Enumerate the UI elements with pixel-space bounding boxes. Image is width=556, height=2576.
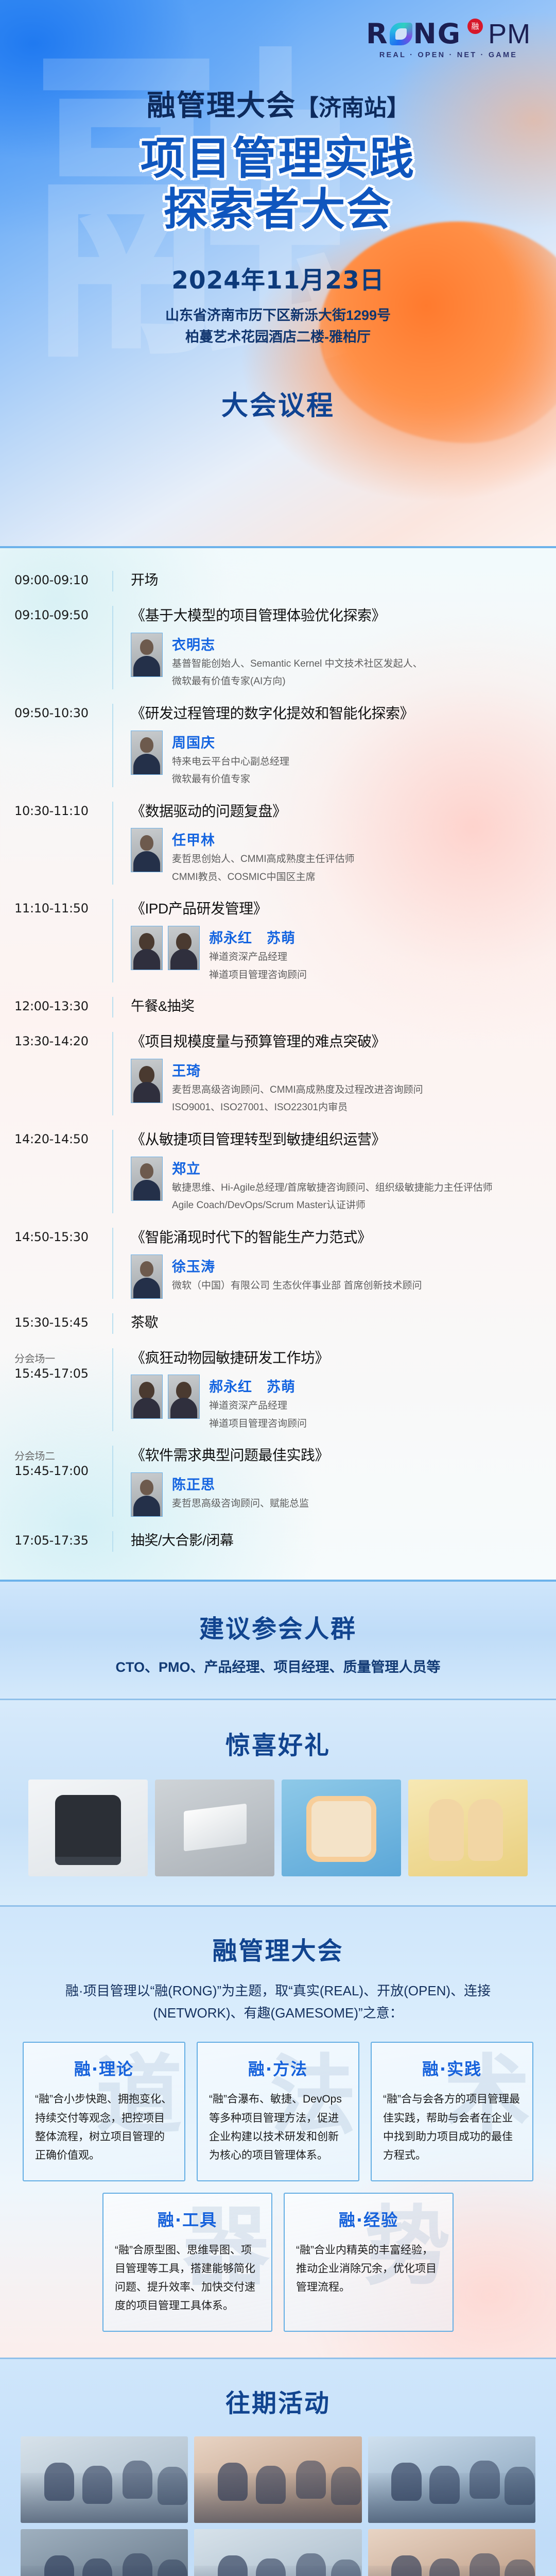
- speaker-info: 郝永红 苏萌禅道资深产品经理禅道项目管理咨询顾问: [200, 1375, 307, 1431]
- agenda-time: 14:20-14:50: [14, 1130, 112, 1146]
- agenda-time: 09:50-10:30: [14, 704, 112, 720]
- agenda-row: 09:00-09:10开场: [0, 564, 556, 599]
- speaker-info: 王琦麦哲思高级咨询顾问、CMMI高成熟度及过程改进咨询顾问ISO9001、ISO…: [163, 1059, 423, 1115]
- agenda-body: 《智能涌现时代下的智能生产力范式》徐玉涛微软（中国）有限公司 生态伙伴事业部 首…: [112, 1228, 536, 1299]
- speaker-info: 陈正思麦哲思高级咨询顾问、赋能总监: [163, 1472, 309, 1512]
- brand-card: 道融·理论“融”合小步快跑、拥抱变化、持续交付等观念，把控项目整体流程，树立项目…: [23, 2042, 185, 2181]
- audience-text: CTO、PMO、产品经理、项目经理、质量管理人员等: [0, 1656, 556, 1676]
- card-title: 融·工具: [115, 2207, 260, 2231]
- agenda-title: 茶歇: [131, 1313, 536, 1332]
- past-event-photo: [368, 2436, 535, 2523]
- gift-image-row: [0, 1780, 556, 1876]
- speaker-title: 麦哲思高级咨询顾问、赋能总监: [172, 1497, 309, 1512]
- agenda-row: 分会场二15:45-17:00《软件需求典型问题最佳实践》陈正思麦哲思高级咨询顾…: [0, 1438, 556, 1524]
- agenda-title: 《智能涌现时代下的智能生产力范式》: [131, 1228, 536, 1247]
- speaker-block: 郝永红 苏萌禅道资深产品经理禅道项目管理咨询顾问: [131, 926, 536, 982]
- gift-plush-doll-image: [408, 1780, 528, 1876]
- agenda-title: 《从敏捷项目管理转型到敏捷组织运营》: [131, 1130, 536, 1149]
- agenda-title: 午餐&抽奖: [131, 997, 536, 1015]
- speaker-info: 任甲林麦哲思创始人、CMMI高成熟度主任评估师CMMI教员、COSMIC中国区主…: [163, 828, 355, 885]
- past-event-photo: [194, 2529, 361, 2576]
- speaker-title: 麦哲思高级咨询顾问、CMMI高成熟度及过程改进咨询顾问: [172, 1083, 423, 1098]
- agenda-row: 15:30-15:45茶歇: [0, 1306, 556, 1341]
- address-line-1: 山东省济南市历下区新泺大街1299号: [0, 305, 556, 327]
- gifts-heading: 惊喜好礼: [0, 1725, 556, 1761]
- speaker-title: ISO9001、ISO27001、ISO22301内审员: [172, 1100, 423, 1115]
- speaker-block: 任甲林麦哲思创始人、CMMI高成熟度主任评估师CMMI教员、COSMIC中国区主…: [131, 828, 536, 885]
- speaker-title: 禅道资深产品经理: [209, 950, 307, 965]
- speaker-title: 基普智能创始人、Semantic Kernel 中文技术社区发起人、: [172, 657, 423, 672]
- agenda-body: 《研发过程管理的数字化提效和智能化探索》周国庆特来电云平台中心副总经理微软最有价…: [112, 704, 536, 787]
- agenda-title: 《疯狂动物园敏捷研发工作坊》: [131, 1348, 536, 1368]
- agenda-time: 分会场一15:45-17:05: [14, 1348, 112, 1381]
- speaker-avatar: [131, 1375, 163, 1419]
- agenda-session-label: 分会场一: [14, 1350, 112, 1365]
- brand-cards-row-2: 器融·工具“融”合原型图、思维导图、项目管理等工具，搭建能够简化问题、提升效率、…: [0, 2193, 556, 2332]
- speaker-avatar: [131, 828, 163, 872]
- hero-title-line1: 融管理大会【济南站】: [0, 82, 556, 124]
- agenda-body: 《软件需求典型问题最佳实践》陈正思麦哲思高级咨询顾问、赋能总监: [112, 1446, 536, 1517]
- card-title: 融·实践: [383, 2056, 521, 2080]
- speaker-info: 郑立敏捷思维、Hi-Agile总经理/首席敏捷咨询顾问、组织级敏捷能力主任评估师…: [163, 1157, 493, 1213]
- speaker-avatar: [131, 731, 163, 775]
- speaker-name: 王琦: [172, 1060, 423, 1080]
- brand-heading: 融管理大会: [0, 1930, 556, 1967]
- brand-description: 融·项目管理以“融(RONG)”为主题，取“真实(REAL)、开放(OPEN)、…: [33, 1980, 523, 2024]
- agenda-title: 《项目规模度量与预算管理的难点突破》: [131, 1032, 536, 1052]
- speaker-photos: [131, 1255, 163, 1299]
- agenda-time: 14:50-15:30: [14, 1228, 112, 1244]
- agenda-heading: 大会议程: [0, 384, 556, 422]
- speaker-block: 徐玉涛微软（中国）有限公司 生态伙伴事业部 首席创新技术顾问: [131, 1255, 536, 1299]
- agenda-body: 《IPD产品研发管理》郝永红 苏萌禅道资深产品经理禅道项目管理咨询顾问: [112, 899, 536, 982]
- agenda-section: 09:00-09:10开场09:10-09:50《基于大模型的项目管理体验优化探…: [0, 546, 556, 1582]
- speaker-name: 周国庆: [172, 732, 289, 752]
- agenda-time: 13:30-14:20: [14, 1032, 112, 1048]
- speaker-title: 禅道项目管理咨询顾问: [209, 968, 307, 983]
- speaker-title: 微软（中国）有限公司 生态伙伴事业部 首席创新技术顾问: [172, 1279, 422, 1294]
- card-title: 融·方法: [209, 2056, 347, 2080]
- event-date: 2024年11月23日: [0, 260, 556, 296]
- speaker-info: 郝永红 苏萌禅道资深产品经理禅道项目管理咨询顾问: [200, 926, 307, 982]
- speaker-photos: [131, 731, 163, 775]
- agenda-time: 09:10-09:50: [14, 606, 112, 622]
- agenda-row: 11:10-11:50《IPD产品研发管理》郝永红 苏萌禅道资深产品经理禅道项目…: [0, 892, 556, 990]
- speaker-name: 郝永红 苏萌: [209, 1376, 307, 1396]
- speaker-avatar: [131, 1157, 163, 1201]
- speaker-title: 特来电云平台中心副总经理: [172, 755, 289, 770]
- agenda-body: 开场: [112, 571, 536, 591]
- card-text: “融”合业内精英的丰富经验，推动企业消除冗余，优化项目管理流程。: [296, 2241, 441, 2297]
- agenda-row: 分会场一15:45-17:05《疯狂动物园敏捷研发工作坊》郝永红 苏萌禅道资深产…: [0, 1341, 556, 1439]
- speaker-title: CMMI教员、COSMIC中国区主席: [172, 870, 355, 885]
- past-events-section: 往期活动: [0, 2359, 556, 2576]
- agenda-title: 抽奖/大合影/闭幕: [131, 1531, 536, 1550]
- speaker-photos: [131, 633, 163, 677]
- agenda-time: 12:00-13:30: [14, 997, 112, 1013]
- speaker-title: 禅道资深产品经理: [209, 1399, 307, 1414]
- speaker-name: 徐玉涛: [172, 1256, 422, 1276]
- past-event-photo: [194, 2436, 361, 2523]
- speaker-photos: [131, 1157, 163, 1201]
- agenda-title: 开场: [131, 571, 536, 589]
- agenda-time: 09:00-09:10: [14, 571, 112, 587]
- agenda-session-label: 分会场二: [14, 1448, 112, 1463]
- speaker-block: 陈正思麦哲思高级咨询顾问、赋能总监: [131, 1472, 536, 1517]
- speaker-block: 郝永红 苏萌禅道资深产品经理禅道项目管理咨询顾问: [131, 1375, 536, 1431]
- speaker-block: 王琦麦哲思高级咨询顾问、CMMI高成熟度及过程改进咨询顾问ISO9001、ISO…: [131, 1059, 536, 1115]
- agenda-body: 《基于大模型的项目管理体验优化探索》衣明志基普智能创始人、Semantic Ke…: [112, 606, 536, 689]
- speaker-info: 衣明志基普智能创始人、Semantic Kernel 中文技术社区发起人、微软最…: [163, 633, 423, 689]
- brand-card: 法融·方法“融”合瀑布、敏捷、DevOps等多种项目管理方法，促进企业构建以技术…: [197, 2042, 359, 2181]
- speaker-name: 陈正思: [172, 1473, 309, 1494]
- agenda-time: 15:30-15:45: [14, 1313, 112, 1330]
- speaker-name: 郑立: [172, 1158, 493, 1178]
- audience-heading: 建议参会人群: [0, 1608, 556, 1645]
- speaker-name: 衣明志: [172, 634, 423, 654]
- agenda-row: 12:00-13:30午餐&抽奖: [0, 990, 556, 1025]
- past-event-photo: [368, 2529, 535, 2576]
- speaker-photos: [131, 1472, 163, 1517]
- gifts-section: 惊喜好礼: [0, 1700, 556, 1907]
- brand-cards-row-1: 道融·理论“融”合小步快跑、拥抱变化、持续交付等观念，把控项目整体流程，树立项目…: [0, 2042, 556, 2181]
- speaker-photos: [131, 1059, 163, 1103]
- agenda-title: 《基于大模型的项目管理体验优化探索》: [131, 606, 536, 625]
- past-event-photo: [21, 2529, 188, 2576]
- past-event-photo: [21, 2436, 188, 2523]
- speaker-block: 衣明志基普智能创始人、Semantic Kernel 中文技术社区发起人、微软最…: [131, 633, 536, 689]
- speaker-info: 周国庆特来电云平台中心副总经理微软最有价值专家: [163, 731, 289, 787]
- past-events-photo-grid: [0, 2436, 556, 2576]
- gift-backpack-image: [28, 1780, 148, 1876]
- speaker-title: 麦哲思创始人、CMMI高成熟度主任评估师: [172, 852, 355, 867]
- speaker-avatar: [168, 1375, 200, 1419]
- agenda-body: 茶歇: [112, 1313, 536, 1334]
- speaker-name: 任甲林: [172, 829, 355, 849]
- event-address: 山东省济南市历下区新泺大街1299号 柏蔓艺术花园酒店二楼-雅柏厅: [0, 305, 556, 348]
- agenda-body: 《从敏捷项目管理转型到敏捷组织运营》郑立敏捷思维、Hi-Agile总经理/首席敏…: [112, 1130, 536, 1213]
- agenda-time: 11:10-11:50: [14, 899, 112, 916]
- speaker-name: 郝永红 苏萌: [209, 927, 307, 947]
- speaker-photos: [131, 828, 163, 872]
- hero-title-main: 融管理大会: [147, 89, 296, 123]
- agenda-row: 14:50-15:30《智能涌现时代下的智能生产力范式》徐玉涛微软（中国）有限公…: [0, 1221, 556, 1306]
- agenda-title: 《数据驱动的问题复盘》: [131, 802, 536, 821]
- speaker-title: 微软最有价值专家: [172, 772, 289, 787]
- speaker-block: 周国庆特来电云平台中心副总经理微软最有价值专家: [131, 731, 536, 787]
- agenda-title: 《软件需求典型问题最佳实践》: [131, 1446, 536, 1465]
- agenda-row: 10:30-11:10《数据驱动的问题复盘》任甲林麦哲思创始人、CMMI高成熟度…: [0, 794, 556, 892]
- brand-card: 术融·实践“融”合与会各方的项目管理最佳实践，帮助与会者在企业中找到助力项目成功…: [371, 2042, 533, 2181]
- card-text: “融”合瀑布、敏捷、DevOps等多种项目管理方法，促进企业构建以技术研发和创新…: [209, 2090, 347, 2164]
- agenda-body: 《数据驱动的问题复盘》任甲林麦哲思创始人、CMMI高成熟度主任评估师CMMI教员…: [112, 802, 536, 885]
- agenda-time: 10:30-11:10: [14, 802, 112, 818]
- agenda-row: 13:30-14:20《项目规模度量与预算管理的难点突破》王琦麦哲思高级咨询顾问…: [0, 1025, 556, 1123]
- agenda-body: 午餐&抽奖: [112, 997, 536, 1018]
- agenda-time: 17:05-17:35: [14, 1531, 112, 1548]
- speaker-title: Agile Coach/DevOps/Scrum Master认证讲师: [172, 1198, 493, 1213]
- speaker-avatar: [131, 633, 163, 677]
- agenda-title: 《IPD产品研发管理》: [131, 899, 536, 919]
- speaker-avatar: [131, 1255, 163, 1299]
- agenda-body: 《疯狂动物园敏捷研发工作坊》郝永红 苏萌禅道资深产品经理禅道项目管理咨询顾问: [112, 1348, 536, 1432]
- audience-section: 建议参会人群 CTO、PMO、产品经理、项目经理、质量管理人员等: [0, 1582, 556, 1700]
- hero-title-big-line1: 项目管理实践: [0, 133, 556, 184]
- agenda-row: 14:20-14:50《从敏捷项目管理转型到敏捷组织运营》郑立敏捷思维、Hi-A…: [0, 1123, 556, 1221]
- past-events-heading: 往期活动: [0, 2383, 556, 2419]
- brand-card: 势融·经验“融”合业内精英的丰富经验，推动企业消除冗余，优化项目管理流程。: [284, 2193, 454, 2332]
- poster-page: 融 RNG 融 PM REAL · OPEN · NET · GAME 融管理大…: [0, 0, 556, 2576]
- agenda-body: 抽奖/大合影/闭幕: [112, 1531, 536, 1552]
- speaker-avatar: [131, 1472, 163, 1517]
- speaker-avatar: [131, 926, 163, 970]
- card-text: “融”合原型图、思维导图、项目管理等工具，搭建能够简化问题、提升效率、加快交付速…: [115, 2241, 260, 2315]
- hero-title-bracket: 【济南站】: [296, 95, 409, 121]
- hero-title-big: 项目管理实践 探索者大会: [0, 133, 556, 235]
- card-text: “融”合与会各方的项目管理最佳实践，帮助与会者在企业中找到助力项目成功的最佳方程…: [383, 2090, 521, 2164]
- agenda-title: 《研发过程管理的数字化提效和智能化探索》: [131, 704, 536, 723]
- speaker-avatar: [168, 926, 200, 970]
- card-title: 融·经验: [296, 2207, 441, 2231]
- speaker-block: 郑立敏捷思维、Hi-Agile总经理/首席敏捷咨询顾问、组织级敏捷能力主任评估师…: [131, 1157, 536, 1213]
- speaker-avatar: [131, 1059, 163, 1103]
- speaker-info: 徐玉涛微软（中国）有限公司 生态伙伴事业部 首席创新技术顾问: [163, 1255, 422, 1294]
- agenda-body: 《项目规模度量与预算管理的难点突破》王琦麦哲思高级咨询顾问、CMMI高成熟度及过…: [112, 1032, 536, 1115]
- hero-section: 融 RNG 融 PM REAL · OPEN · NET · GAME 融管理大…: [0, 0, 556, 546]
- agenda-time: 分会场二15:45-17:00: [14, 1446, 112, 1478]
- agenda-list: 09:00-09:10开场09:10-09:50《基于大模型的项目管理体验优化探…: [0, 564, 556, 1559]
- address-line-2: 柏蔓艺术花园酒店二楼-雅柏厅: [0, 327, 556, 348]
- speaker-title: 微软最有价值专家(AI方向): [172, 674, 423, 689]
- speaker-photos: [131, 926, 200, 970]
- card-title: 融·理论: [35, 2056, 173, 2080]
- agenda-row: 09:50-10:30《研发过程管理的数字化提效和智能化探索》周国庆特来电云平台…: [0, 697, 556, 794]
- brand-concept-section: 融管理大会 融·项目管理以“融(RONG)”为主题，取“真实(REAL)、开放(…: [0, 1907, 556, 2359]
- speaker-title: 禅道项目管理咨询顾问: [209, 1417, 307, 1432]
- hero-title-big-line2: 探索者大会: [0, 184, 556, 235]
- speaker-photos: [131, 1375, 200, 1419]
- agenda-row: 09:10-09:50《基于大模型的项目管理体验优化探索》衣明志基普智能创始人、…: [0, 599, 556, 697]
- brand-card: 器融·工具“融”合原型图、思维导图、项目管理等工具，搭建能够简化问题、提升效率、…: [102, 2193, 272, 2332]
- gift-plush-pillow-image: [282, 1780, 401, 1876]
- card-text: “融”合小步快跑、拥抱变化、持续交付等观念，把控项目整体流程，树立项目管理的正确…: [35, 2090, 173, 2164]
- speaker-title: 敏捷思维、Hi-Agile总经理/首席敏捷咨询顾问、组织级敏捷能力主任评估师: [172, 1181, 493, 1196]
- agenda-row: 17:05-17:35抽奖/大合影/闭幕: [0, 1524, 556, 1559]
- gift-desk-accessory-image: [155, 1780, 274, 1876]
